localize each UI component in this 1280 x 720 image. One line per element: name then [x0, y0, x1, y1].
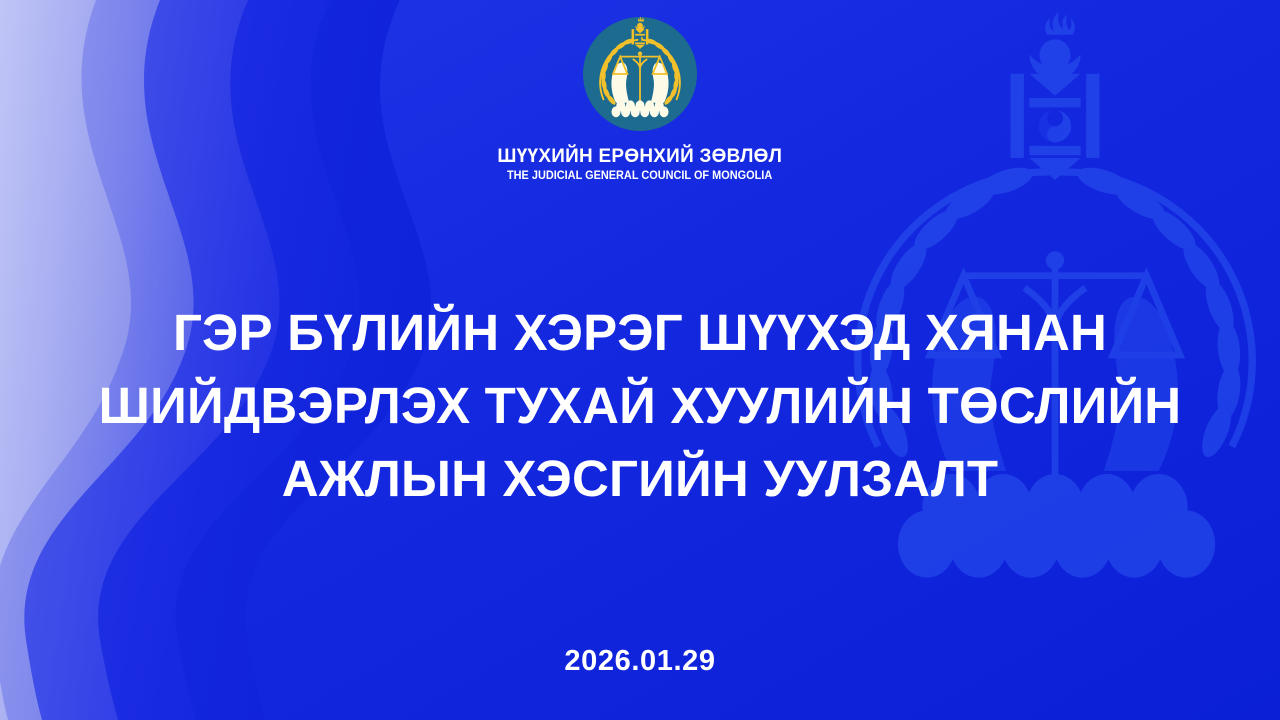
title-slide: ШҮҮХИЙН ЕРӨНХИЙ ЗӨВЛӨЛ THE JUDICIAL GENE…: [0, 0, 1280, 720]
slide-date: 2026.01.29: [0, 645, 1280, 678]
title-line-3: АЖЛЫН ХЭСГИЙН УУЛЗАЛТ: [60, 442, 1220, 515]
organization-name-en: THE JUDICIAL GENERAL COUNCIL OF MONGOLIA: [507, 171, 772, 183]
title-line-1: ГЭР БҮЛИЙН ХЭРЭГ ШҮҮХЭД ХЯНАН: [60, 296, 1220, 369]
title-line-2: ШИЙДВЭРЛЭХ ТУХАЙ ХУУЛИЙН ТӨСЛИЙН: [60, 369, 1220, 442]
judicial-scales-emblem-icon: [580, 14, 700, 134]
organization-name-mn: ШҮҮХИЙН ЕРӨНХИЙ ЗӨВЛӨЛ: [498, 147, 783, 167]
organization-logo-block: ШҮҮХИЙН ЕРӨНХИЙ ЗӨВЛӨЛ THE JUDICIAL GENE…: [0, 14, 1280, 182]
slide-title: ГЭР БҮЛИЙН ХЭРЭГ ШҮҮХЭД ХЯНАН ШИЙДВЭРЛЭХ…: [0, 296, 1280, 515]
